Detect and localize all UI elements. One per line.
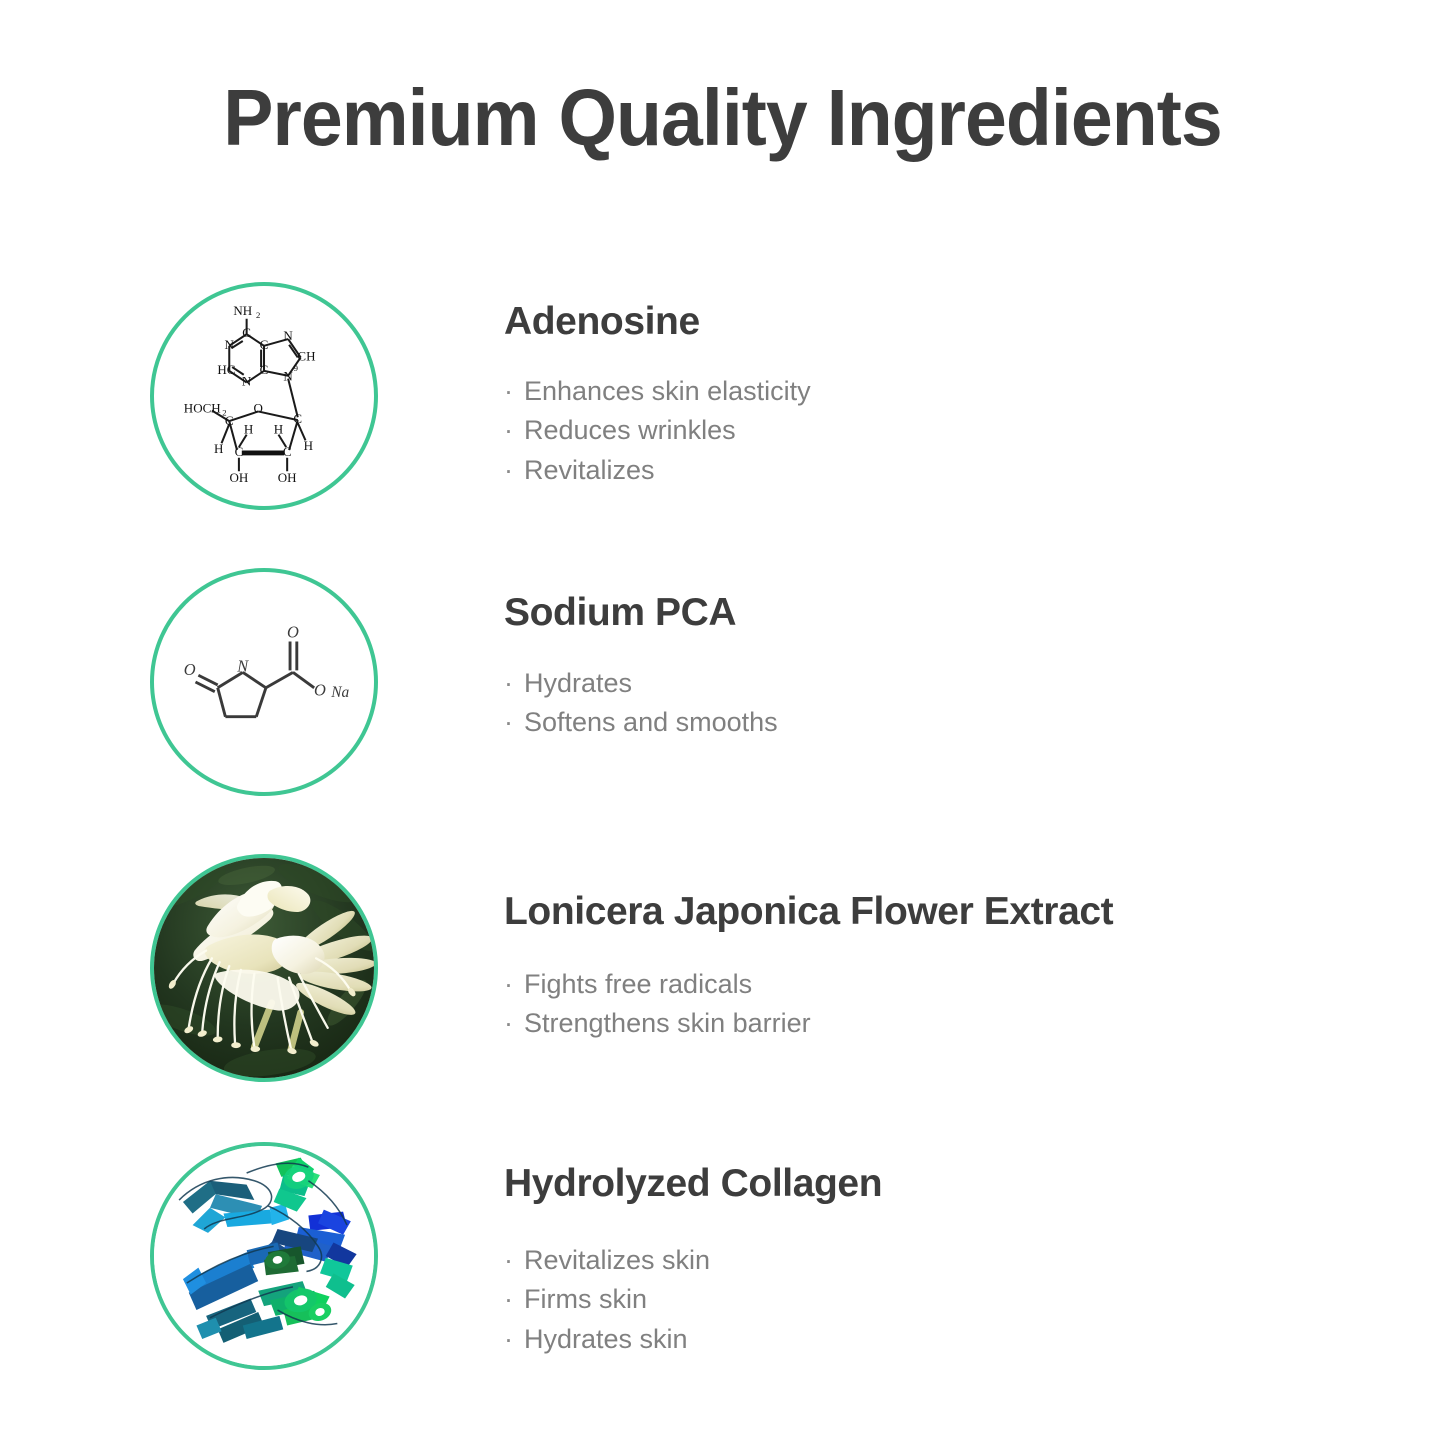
benefits-list: ·Fights free radicals ·Strengthens skin … <box>504 933 1405 1044</box>
svg-text:O: O <box>254 400 263 415</box>
bullet-icon: · <box>504 965 524 1005</box>
list-item: ·Hydrates skin <box>504 1320 1405 1360</box>
list-item: ·Fights free radicals <box>504 965 1405 1005</box>
svg-text:C: C <box>260 362 269 377</box>
ingredients-infographic: Premium Quality Ingredients <box>0 0 1445 1445</box>
list-item: ·Softens and smooths <box>504 703 1405 743</box>
bullet-icon: · <box>504 1280 524 1320</box>
svg-text:O: O <box>184 660 196 679</box>
benefit-text: Fights free radicals <box>524 969 752 999</box>
ingredient-row-adenosine: NH 2 C C N HC N C N CH N 9 HOCH 2 O C C <box>0 276 1445 516</box>
svg-text:CH: CH <box>297 348 316 363</box>
svg-text:Na: Na <box>330 684 349 701</box>
svg-text:C: C <box>293 411 302 426</box>
ingredient-name: Hydrolyzed Collagen <box>504 1136 1405 1205</box>
benefits-list: ·Hydrates ·Softens and smooths <box>504 634 1405 743</box>
svg-text:OH: OH <box>278 470 297 485</box>
benefit-text: Hydrates skin <box>524 1324 688 1354</box>
svg-text:HOCH: HOCH <box>184 400 221 415</box>
bullet-icon: · <box>504 411 524 451</box>
svg-text:2: 2 <box>256 310 260 320</box>
ingredient-row-hydrolyzed-collagen: Hydrolyzed Collagen ·Revitalizes skin ·F… <box>0 1136 1445 1376</box>
benefit-text: Enhances skin elasticity <box>524 376 811 406</box>
list-item: ·Hydrates <box>504 664 1405 704</box>
bullet-icon: · <box>504 703 524 743</box>
list-item: ·Enhances skin elasticity <box>504 372 1405 412</box>
benefit-text: Reduces wrinkles <box>524 415 736 445</box>
svg-text:C: C <box>260 337 269 352</box>
svg-text:C: C <box>242 325 251 340</box>
adenosine-structure-diagram: NH 2 C C N HC N C N CH N 9 HOCH 2 O C C <box>154 286 374 506</box>
ingredient-name: Lonicera Japonica Flower Extract <box>504 848 1405 933</box>
svg-text:C: C <box>283 444 292 459</box>
ingredient-row-sodium-pca: O N O O Na Sodium PCA ·Hydrates ·Softens… <box>0 562 1445 802</box>
svg-text:N: N <box>236 656 249 675</box>
svg-text:NH: NH <box>233 303 252 318</box>
svg-text:H: H <box>214 441 224 456</box>
svg-text:N: N <box>283 369 293 384</box>
collagen-protein-ribbon-diagram <box>154 1146 374 1366</box>
svg-text:N: N <box>283 328 293 343</box>
svg-text:H: H <box>244 422 254 437</box>
page-title: Premium Quality Ingredients <box>43 78 1401 158</box>
bullet-icon: · <box>504 1320 524 1360</box>
list-item: ·Reduces wrinkles <box>504 411 1405 451</box>
list-item: ·Strengthens skin barrier <box>504 1004 1405 1044</box>
list-item: ·Firms skin <box>504 1280 1405 1320</box>
adenosine-structure-circle: NH 2 C C N HC N C N CH N 9 HOCH 2 O C C <box>150 282 378 510</box>
svg-text:C: C <box>235 444 244 459</box>
svg-text:HC: HC <box>217 362 235 377</box>
honeysuckle-flower-circle <box>150 854 378 1082</box>
sodium-pca-text-column: Sodium PCA ·Hydrates ·Softens and smooth… <box>504 562 1405 743</box>
sodium-pca-structure-circle: O N O O Na <box>150 568 378 796</box>
svg-text:N: N <box>225 337 235 352</box>
list-item: ·Revitalizes skin <box>504 1241 1405 1281</box>
benefit-text: Softens and smooths <box>524 707 778 737</box>
honeysuckle-flower-photo <box>154 858 374 1078</box>
svg-text:H: H <box>274 422 284 437</box>
ingredient-name: Sodium PCA <box>504 562 1405 634</box>
svg-text:O: O <box>314 680 326 699</box>
lonicera-text-column: Lonicera Japonica Flower Extract ·Fights… <box>504 848 1405 1044</box>
ingredient-row-lonicera-japonica: Lonicera Japonica Flower Extract ·Fights… <box>0 848 1445 1088</box>
ingredient-name: Adenosine <box>504 276 1405 343</box>
sodium-pca-structure-diagram: O N O O Na <box>154 572 374 792</box>
bullet-icon: · <box>504 1241 524 1281</box>
benefit-text: Revitalizes skin <box>524 1245 710 1275</box>
svg-text:OH: OH <box>230 470 249 485</box>
benefits-list: ·Revitalizes skin ·Firms skin ·Hydrates … <box>504 1205 1405 1360</box>
list-item: ·Revitalizes <box>504 451 1405 491</box>
svg-text:9: 9 <box>294 363 298 373</box>
bullet-icon: · <box>504 1004 524 1044</box>
bullet-icon: · <box>504 451 524 491</box>
collagen-protein-circle <box>150 1142 378 1370</box>
bullet-icon: · <box>504 372 524 412</box>
svg-text:O: O <box>287 623 299 642</box>
svg-text:N: N <box>242 373 252 388</box>
adenosine-text-column: Adenosine ·Enhances skin elasticity ·Red… <box>504 276 1405 490</box>
svg-text:H: H <box>304 438 314 453</box>
collagen-text-column: Hydrolyzed Collagen ·Revitalizes skin ·F… <box>504 1136 1405 1359</box>
svg-text:C: C <box>225 413 234 428</box>
benefit-text: Hydrates <box>524 668 632 698</box>
benefits-list: ·Enhances skin elasticity ·Reduces wrink… <box>504 343 1405 491</box>
benefit-text: Strengthens skin barrier <box>524 1008 811 1038</box>
benefit-text: Firms skin <box>524 1284 647 1314</box>
bullet-icon: · <box>504 664 524 704</box>
benefit-text: Revitalizes <box>524 455 655 485</box>
